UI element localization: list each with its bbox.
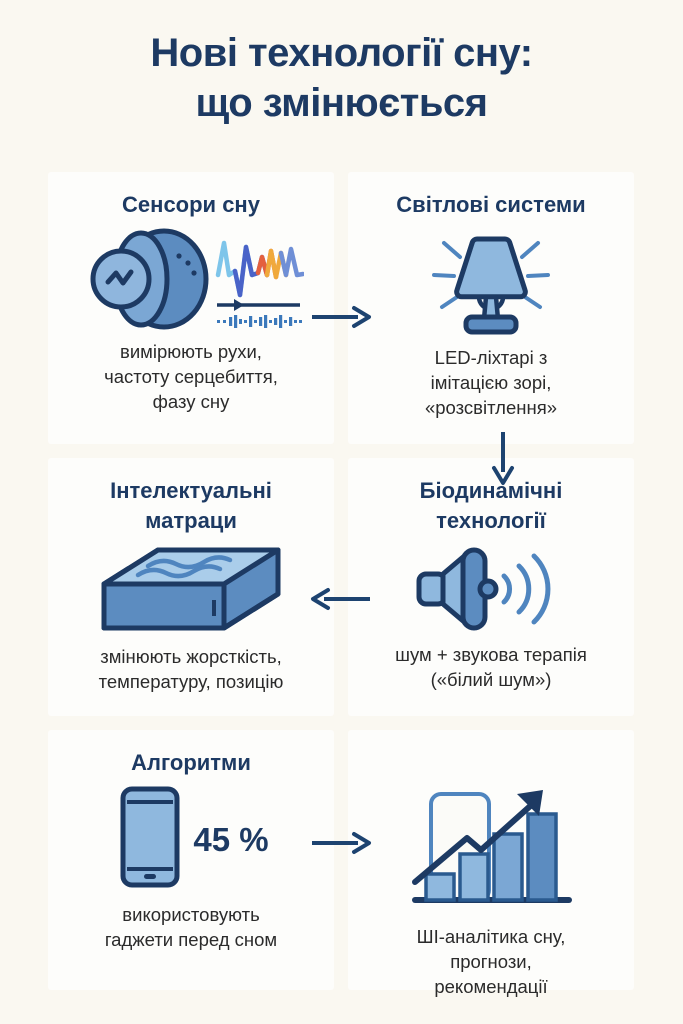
card-desc-smart-mattresses: змінюють жорсткість, температуру, позиці… xyxy=(99,644,284,694)
growth-bar-chart-icon xyxy=(401,782,581,910)
card-desc-biodynamic-tech: шум + звукова терапія («білий шум») xyxy=(395,642,587,692)
desc-line: температуру, позицію xyxy=(99,669,284,694)
card-desc-algorithms: використовують гаджети перед сном xyxy=(105,902,277,952)
title-line: матраци xyxy=(110,506,272,536)
arrow-sensors-to-light xyxy=(310,300,372,334)
cards-row-3: Алгоритми 45 % використовують гадже xyxy=(48,730,635,990)
smartphone-icon xyxy=(113,785,187,894)
desc-line: LED-ліхтарі з xyxy=(425,345,557,370)
card-title-light-systems: Світлові системи xyxy=(396,190,585,219)
desc-line: фазу сну xyxy=(104,389,278,414)
card-desc-light-systems: LED-ліхтарі з імітацією зорі, «розсвітле… xyxy=(425,345,557,420)
desc-line: гаджети перед сном xyxy=(105,927,277,952)
desc-line: використовують xyxy=(105,902,277,927)
card-desc-sleep-sensors: вимірюють рухи, частоту серцебиття, фазу… xyxy=(104,339,278,414)
card-sleep-sensors[interactable]: Сенсори сну xyxy=(48,172,334,444)
smart-watch-waveform-icon xyxy=(78,227,304,331)
mattress-icon xyxy=(96,544,286,636)
desc-line: прогнози, xyxy=(417,949,566,974)
desc-line: змінюють жорсткість, xyxy=(99,644,284,669)
infographic-page: Нові технології сну: що змінюється Сенсо… xyxy=(0,0,683,1024)
table-lamp-icon xyxy=(416,227,566,337)
title-line: Інтелектуальні xyxy=(110,476,272,506)
card-light-systems[interactable]: Світлові системи xyxy=(348,172,634,444)
page-title-line-1: Нові технології сну: xyxy=(150,31,532,75)
arrow-algorithms-to-ai xyxy=(310,826,372,860)
page-title: Нові технології сну: що змінюється xyxy=(0,28,683,128)
desc-line: імітацією зорі, xyxy=(425,370,557,395)
arrow-biodynamic-to-mattress xyxy=(310,582,372,616)
speaker-sound-waves-icon xyxy=(411,544,571,634)
card-title-sleep-sensors: Сенсори сну xyxy=(122,190,260,219)
algorithms-stat-group: 45 % xyxy=(113,785,268,894)
card-algorithms[interactable]: Алгоритми 45 % використовують гадже xyxy=(48,730,334,990)
desc-line: рекомендації xyxy=(417,974,566,999)
desc-line: «розсвітлення» xyxy=(425,395,557,420)
desc-line: частоту серцебиття, xyxy=(104,364,278,389)
title-line: технології xyxy=(420,506,563,536)
desc-line: ШІ-аналітика сну, xyxy=(417,924,566,949)
card-desc-ai-analytics: ШІ-аналітика сну, прогнози, рекомендації xyxy=(417,924,566,999)
arrow-light-to-biodynamic xyxy=(486,430,520,486)
card-title-algorithms: Алгоритми xyxy=(131,748,251,777)
card-ai-analytics[interactable]: ШІ-аналітика сну, прогнози, рекомендації xyxy=(348,730,634,990)
stat-percentage: 45 % xyxy=(193,823,268,856)
desc-line: шум + звукова терапія xyxy=(395,642,587,667)
card-biodynamic-tech[interactable]: Біодинамічні технології xyxy=(348,458,634,716)
desc-line: вимірюють рухи, xyxy=(104,339,278,364)
desc-line: («білий шум») xyxy=(395,667,587,692)
card-smart-mattresses[interactable]: Інтелектуальні матраци змінюють xyxy=(48,458,334,716)
card-title-smart-mattresses: Інтелектуальні матраци xyxy=(110,476,272,536)
page-title-line-2: що змінюється xyxy=(0,78,683,128)
